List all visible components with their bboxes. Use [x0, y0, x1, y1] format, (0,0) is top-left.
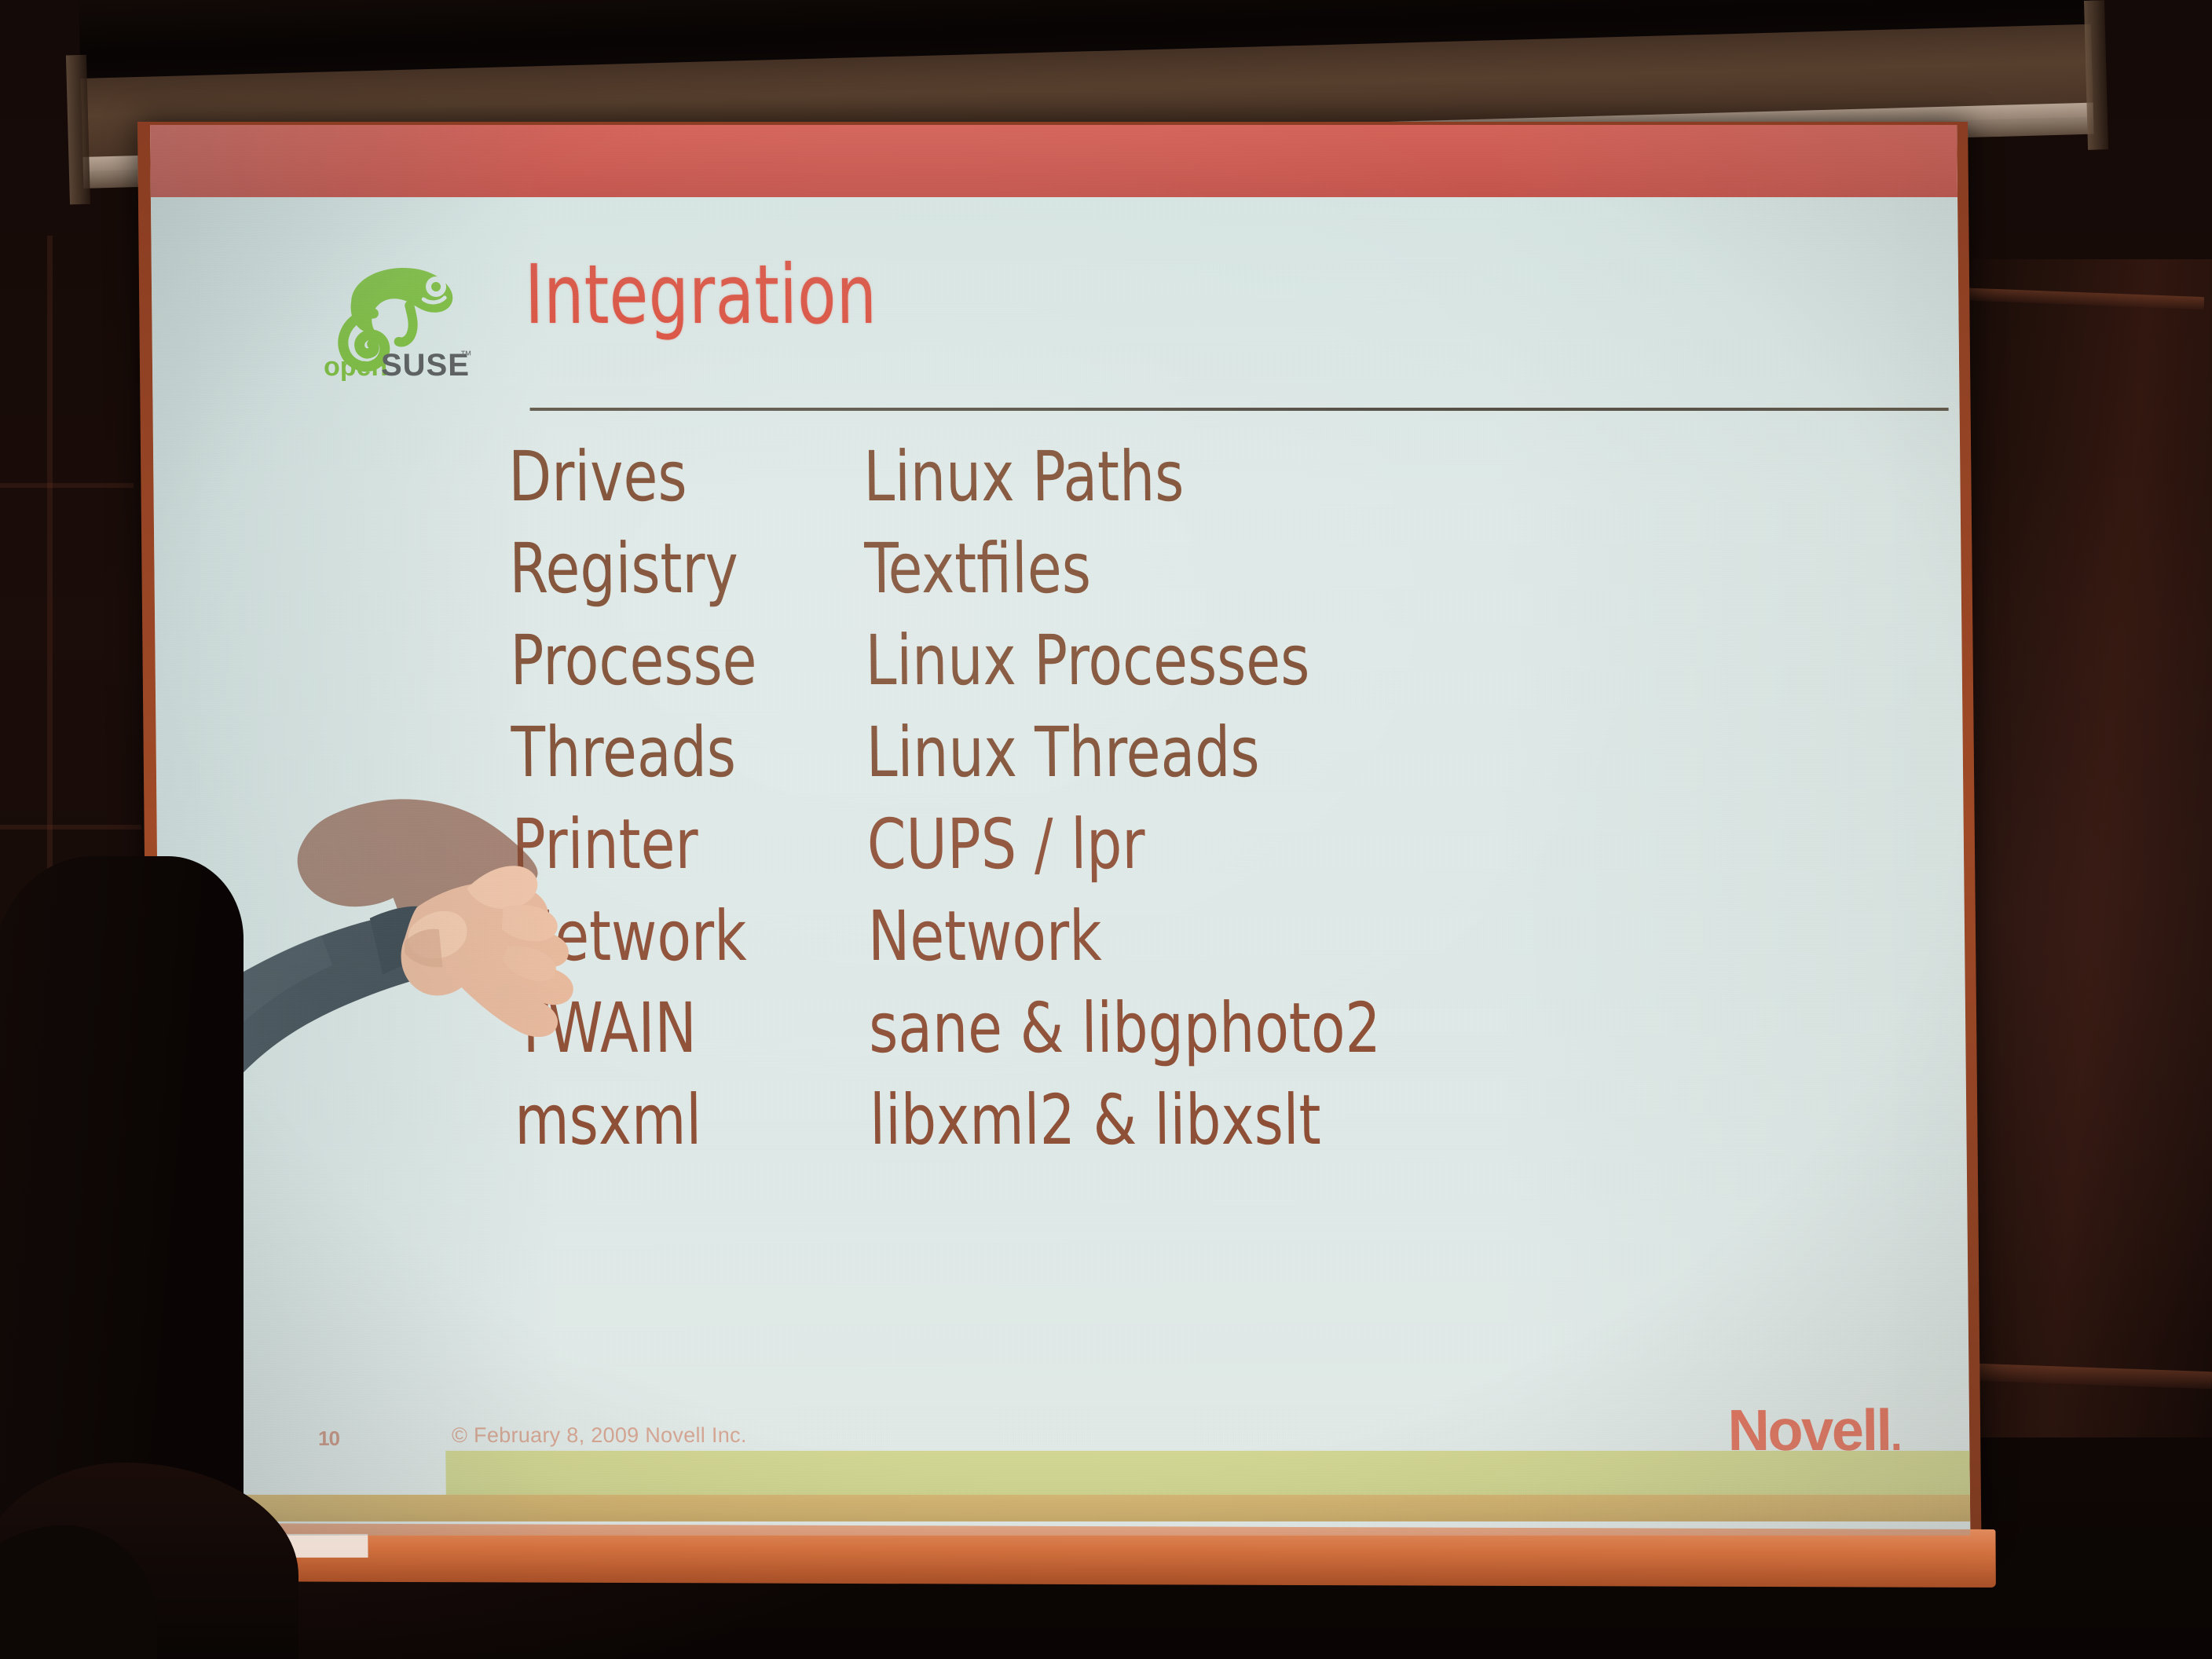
slide-top-band: [150, 125, 1957, 197]
linux-equivalent: Linux Threads: [866, 718, 1260, 787]
wall-seam: [0, 825, 141, 829]
logo-trademark: ™: [460, 349, 472, 362]
table-row: Threads Linux Threads: [156, 718, 1963, 810]
linux-equivalent: Linux Processes: [865, 626, 1309, 695]
logo-word-open: open: [324, 352, 388, 382]
title-divider: [530, 408, 1949, 411]
screen-frame: open SUSE ™ Integration Drives Linux Pat…: [137, 122, 1981, 1536]
windows-feature: Drives: [508, 442, 829, 511]
windows-feature: Threads: [511, 718, 831, 787]
linux-equivalent: Network: [868, 902, 1102, 971]
table-row: Processe Linux Processes: [155, 626, 1962, 718]
housing-end-right: [2084, 0, 2108, 150]
copyright-notice: © February 8, 2009 Novell Inc.: [452, 1423, 747, 1448]
table-row: Registry Textfiles: [154, 534, 1961, 626]
page-number: 10: [318, 1426, 339, 1451]
slide-band-gold: [163, 1495, 1970, 1522]
windows-feature: Printer: [511, 810, 832, 879]
slide-header: open SUSE ™ Integration: [151, 238, 1959, 387]
logo-word-suse: SUSE: [381, 348, 470, 382]
opensuse-logo: open SUSE ™: [306, 252, 476, 382]
wall-trim-right: [1953, 259, 2212, 1437]
table-row: msxml libxml2 & libxslt: [159, 1086, 1967, 1177]
linux-equivalent: libxml2 & libxslt: [870, 1086, 1321, 1155]
housing-end-left: [66, 55, 90, 205]
table-row: Printer CUPS / lpr: [156, 810, 1964, 902]
presentation-slide: open SUSE ™ Integration Drives Linux Pat…: [150, 125, 1970, 1536]
chameleon-leg: [398, 306, 413, 342]
chameleon-eye-pupil: [431, 282, 441, 291]
windows-feature: Processe: [510, 626, 830, 695]
slide-band-green: [445, 1451, 1970, 1500]
windows-feature: Network: [513, 902, 833, 971]
table-row: Network Network: [158, 902, 1965, 994]
table-row: TWAIN sane & libgphoto2: [159, 994, 1966, 1086]
windows-feature: Registry: [509, 534, 829, 603]
windows-feature: TWAIN: [514, 994, 834, 1063]
linux-equivalent: CUPS / lpr: [866, 810, 1145, 879]
page-title: Integration: [525, 252, 877, 338]
linux-equivalent: sane & libgphoto2: [869, 994, 1381, 1063]
integration-mapping-table: Drives Linux Paths Registry Textfiles Pr…: [153, 442, 1967, 1177]
table-row: Drives Linux Paths: [153, 442, 1961, 534]
wall-seam: [0, 483, 134, 488]
slide-body: open SUSE ™ Integration Drives Linux Pat…: [151, 197, 1970, 1536]
linux-equivalent: Textfiles: [864, 534, 1091, 603]
windows-feature: msxml: [515, 1086, 835, 1155]
projection-screen: open SUSE ™ Integration Drives Linux Pat…: [137, 122, 1981, 1536]
linux-equivalent: Linux Paths: [863, 442, 1185, 511]
